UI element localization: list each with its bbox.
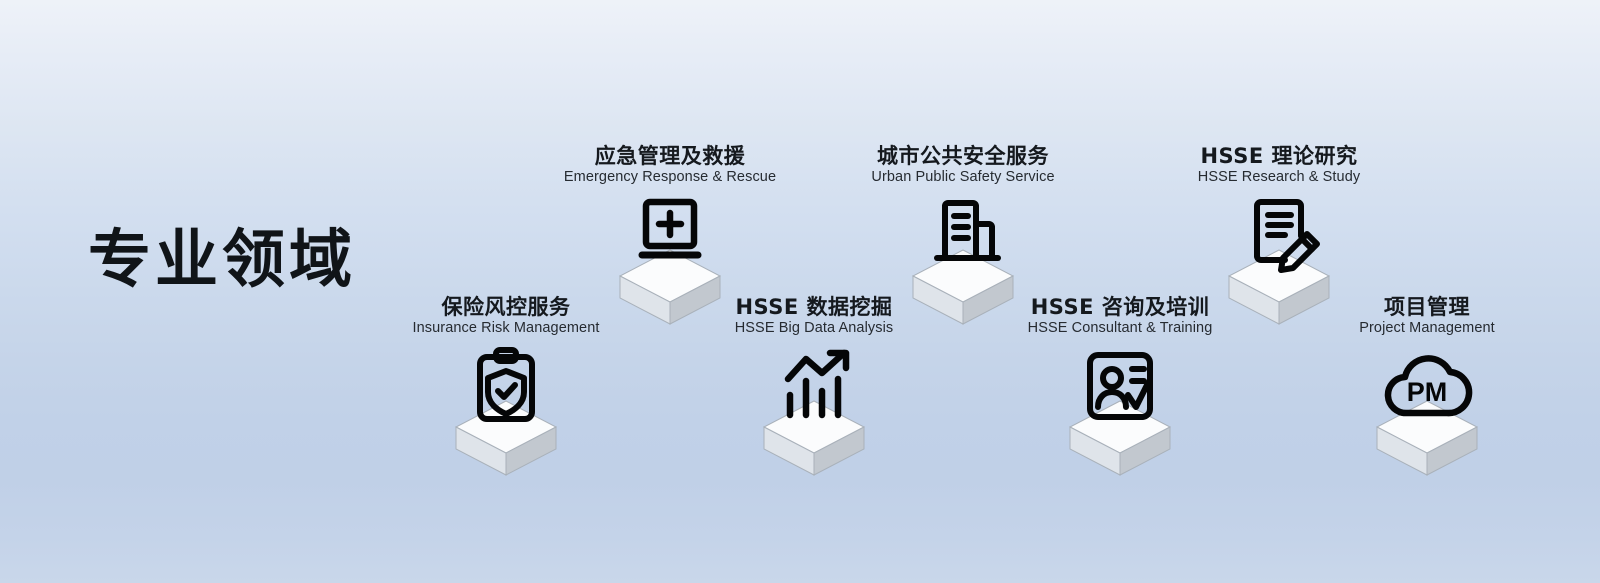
field-label-en: HSSE Big Data Analysis <box>684 321 944 337</box>
pedestal-slab <box>764 401 864 475</box>
city-buildings-icon <box>937 203 998 258</box>
document-pencil-icon <box>1257 202 1317 270</box>
field-item-hsse-consultant-training[interactable]: HSSE 咨询及培训HSSE Consultant & Training <box>990 296 1250 462</box>
professional-fields-banner: 专业领域 保险风控服务Insurance Risk Management 应急管… <box>0 0 1600 583</box>
field-label-en: Project Management <box>1297 321 1557 337</box>
page-title: 专业领域 <box>88 228 356 291</box>
field-item-urban-public-safety-service[interactable]: 城市公共安全服务Urban Public Safety Service <box>833 145 1093 311</box>
field-icon-city-buildings-icon[interactable] <box>833 196 1093 311</box>
field-item-hsse-big-data-analysis[interactable]: HSSE 数据挖掘HSSE Big Data Analysis <box>684 296 944 462</box>
pedestal-slab <box>1070 401 1170 475</box>
field-item-hsse-research-study[interactable]: HSSE 理论研究HSSE Research & Study <box>1149 145 1409 311</box>
field-label-en: HSSE Consultant & Training <box>990 321 1250 337</box>
cloud-pm-icon: PM <box>1388 358 1469 413</box>
field-icon-bar-chart-trend-up-icon[interactable] <box>684 347 944 462</box>
field-label-cn: 项目管理 <box>1297 296 1557 318</box>
field-label-cn: 保险风控服务 <box>376 296 636 318</box>
field-label-cn: HSSE 理论研究 <box>1149 145 1409 167</box>
field-label-cn: HSSE 咨询及培训 <box>990 296 1250 318</box>
field-label-cn: HSSE 数据挖掘 <box>684 296 944 318</box>
field-item-project-management[interactable]: 项目管理Project Management PM <box>1297 296 1557 462</box>
field-label-en: Emergency Response & Rescue <box>540 170 800 186</box>
field-icon-document-pencil-icon[interactable] <box>1149 196 1409 311</box>
field-label-en: HSSE Research & Study <box>1149 170 1409 186</box>
field-icon-clipboard-shield-check-icon[interactable] <box>376 347 636 462</box>
field-icon-monitor-plus-icon[interactable] <box>540 196 800 311</box>
monitor-plus-icon <box>646 202 694 246</box>
field-icon-id-card-person-check-icon[interactable] <box>990 347 1250 462</box>
field-label-cn: 应急管理及救援 <box>540 145 800 167</box>
field-label-en: Urban Public Safety Service <box>833 170 1093 186</box>
field-item-emergency-response-rescue[interactable]: 应急管理及救援Emergency Response & Rescue <box>540 145 800 311</box>
cloud-pm-label: PM <box>1407 377 1448 407</box>
field-label-en: Insurance Risk Management <box>376 321 636 337</box>
field-label-cn: 城市公共安全服务 <box>833 145 1093 167</box>
field-icon-cloud-pm-icon[interactable]: PM <box>1297 347 1557 462</box>
field-item-insurance-risk-management[interactable]: 保险风控服务Insurance Risk Management <box>376 296 636 462</box>
